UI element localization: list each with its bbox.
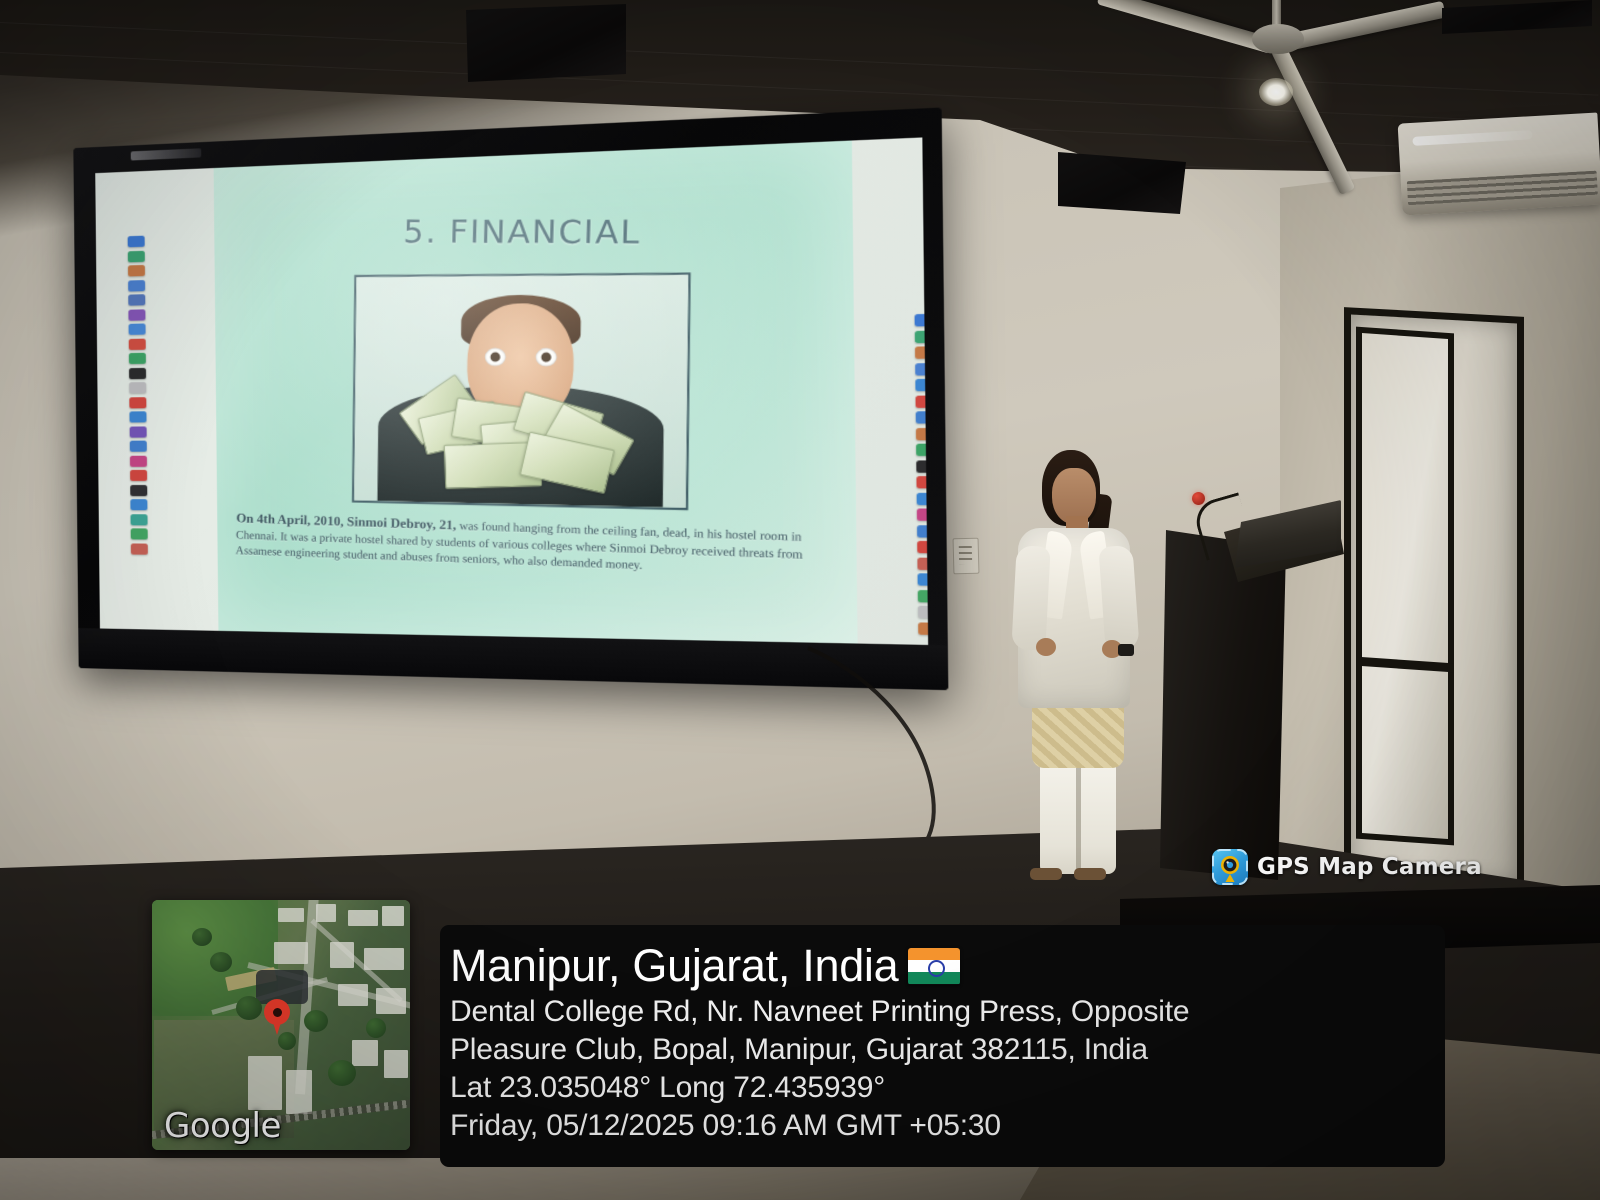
gps-map-camera-watermark: GPS Map Camera (1204, 845, 1490, 889)
address-line-2: Pleasure Club, Bopal, Manipur, Gujarat 3… (450, 1031, 1445, 1069)
board-toolbar-icon-5[interactable] (128, 309, 145, 320)
board-toolbar-icon-10[interactable] (129, 382, 146, 393)
location-title: Manipur, Gujarat, India (450, 939, 898, 993)
map-pin-marker[interactable] (264, 999, 290, 1035)
board-toolbar-icon-18[interactable] (130, 499, 147, 510)
timestamp: Friday, 05/12/2025 09:16 AM GMT +05:30 (450, 1107, 1445, 1145)
board-screen[interactable]: 5. FINANCIAL (95, 137, 928, 644)
board-toolbar-icon-13[interactable] (916, 525, 928, 537)
board-toolbar-icon-3[interactable] (128, 280, 145, 292)
board-toolbar-icon-4[interactable] (128, 294, 145, 306)
board-toolbar-icon-12[interactable] (129, 411, 146, 422)
slide-body-text: On 4th April, 2010, Sinmoi Debroy, 21, w… (236, 511, 845, 583)
board-left-toolbar[interactable] (126, 236, 149, 555)
board-toolbar-icon-1[interactable] (127, 250, 144, 262)
board-toolbar-icon-16[interactable] (130, 470, 147, 481)
fan-hub (1252, 24, 1304, 54)
map-thumbnail[interactable]: Google (152, 900, 410, 1150)
board-toolbar-icon-9[interactable] (128, 367, 145, 378)
board-toolbar-icon-18[interactable] (917, 606, 928, 619)
board-toolbar-icon-11[interactable] (916, 492, 928, 504)
photo-canvas: 5. FINANCIAL (0, 0, 1600, 1200)
board-toolbar-icon-20[interactable] (130, 528, 147, 539)
board-toolbar-icon-15[interactable] (917, 557, 928, 570)
address-line-1: Dental College Rd, Nr. Navneet Printing … (450, 993, 1445, 1031)
split-air-conditioner (1398, 112, 1600, 215)
slide-title: 5. FINANCIAL (214, 214, 853, 253)
board-toolbar-icon-11[interactable] (129, 397, 146, 408)
ac-gloss (1412, 130, 1532, 146)
presenter-clicker (1118, 644, 1134, 656)
presenter-hand-left (1036, 638, 1056, 656)
location-title-row: Manipur, Gujarat, India (450, 939, 1445, 993)
presenter-shoe (1030, 868, 1062, 880)
board-toolbar-icon-0[interactable] (127, 236, 144, 248)
board-toolbar-icon-12[interactable] (916, 508, 928, 520)
wall-power-socket[interactable] (953, 538, 980, 575)
board-toolbar-icon-14[interactable] (129, 441, 146, 452)
coordinates: Lat 23.035048° Long 72.435939° (450, 1069, 1445, 1107)
board-toolbar-icon-19[interactable] (917, 622, 928, 635)
board-toolbar-icon-6[interactable] (128, 323, 145, 334)
ceiling-downlight (1259, 78, 1293, 106)
lectern-podium (1160, 530, 1286, 880)
gps-info-overlay: Manipur, Gujarat, India Dental College R… (440, 925, 1445, 1167)
presenter (990, 450, 1170, 880)
board-toolbar-icon-8[interactable] (128, 353, 145, 364)
presentation-slide: 5. FINANCIAL (214, 141, 858, 644)
board-toolbar-icon-15[interactable] (129, 455, 146, 466)
board-toolbar-icon-13[interactable] (129, 426, 146, 437)
ac-vent (1407, 171, 1598, 206)
board-toolbar-icon-21[interactable] (130, 543, 147, 554)
board-toolbar-icon-2[interactable] (127, 265, 144, 277)
gps-map-camera-label: GPS Map Camera (1257, 854, 1482, 880)
board-toolbar-icon-14[interactable] (917, 541, 929, 553)
presenter-shoe (1074, 868, 1106, 880)
board-toolbar-icon-17[interactable] (130, 485, 147, 496)
board-toolbar-icon-19[interactable] (130, 514, 147, 525)
india-flag-icon (908, 948, 960, 985)
presenter-arm-left (1011, 545, 1050, 651)
google-logo: Google (164, 1106, 281, 1146)
glass-door-leaf[interactable] (1356, 327, 1454, 846)
board-toolbar-icon-16[interactable] (917, 573, 928, 586)
presenter-arm-right (1098, 545, 1139, 651)
board-toolbar-icon-17[interactable] (917, 589, 928, 602)
slide-photo (352, 273, 691, 511)
interactive-smart-board[interactable]: 5. FINANCIAL (73, 107, 948, 690)
acoustic-panel (466, 4, 626, 82)
board-toolbar-icon-7[interactable] (128, 338, 145, 349)
microphone-head-icon (1192, 492, 1205, 505)
gps-map-camera-app-icon (1212, 849, 1248, 885)
